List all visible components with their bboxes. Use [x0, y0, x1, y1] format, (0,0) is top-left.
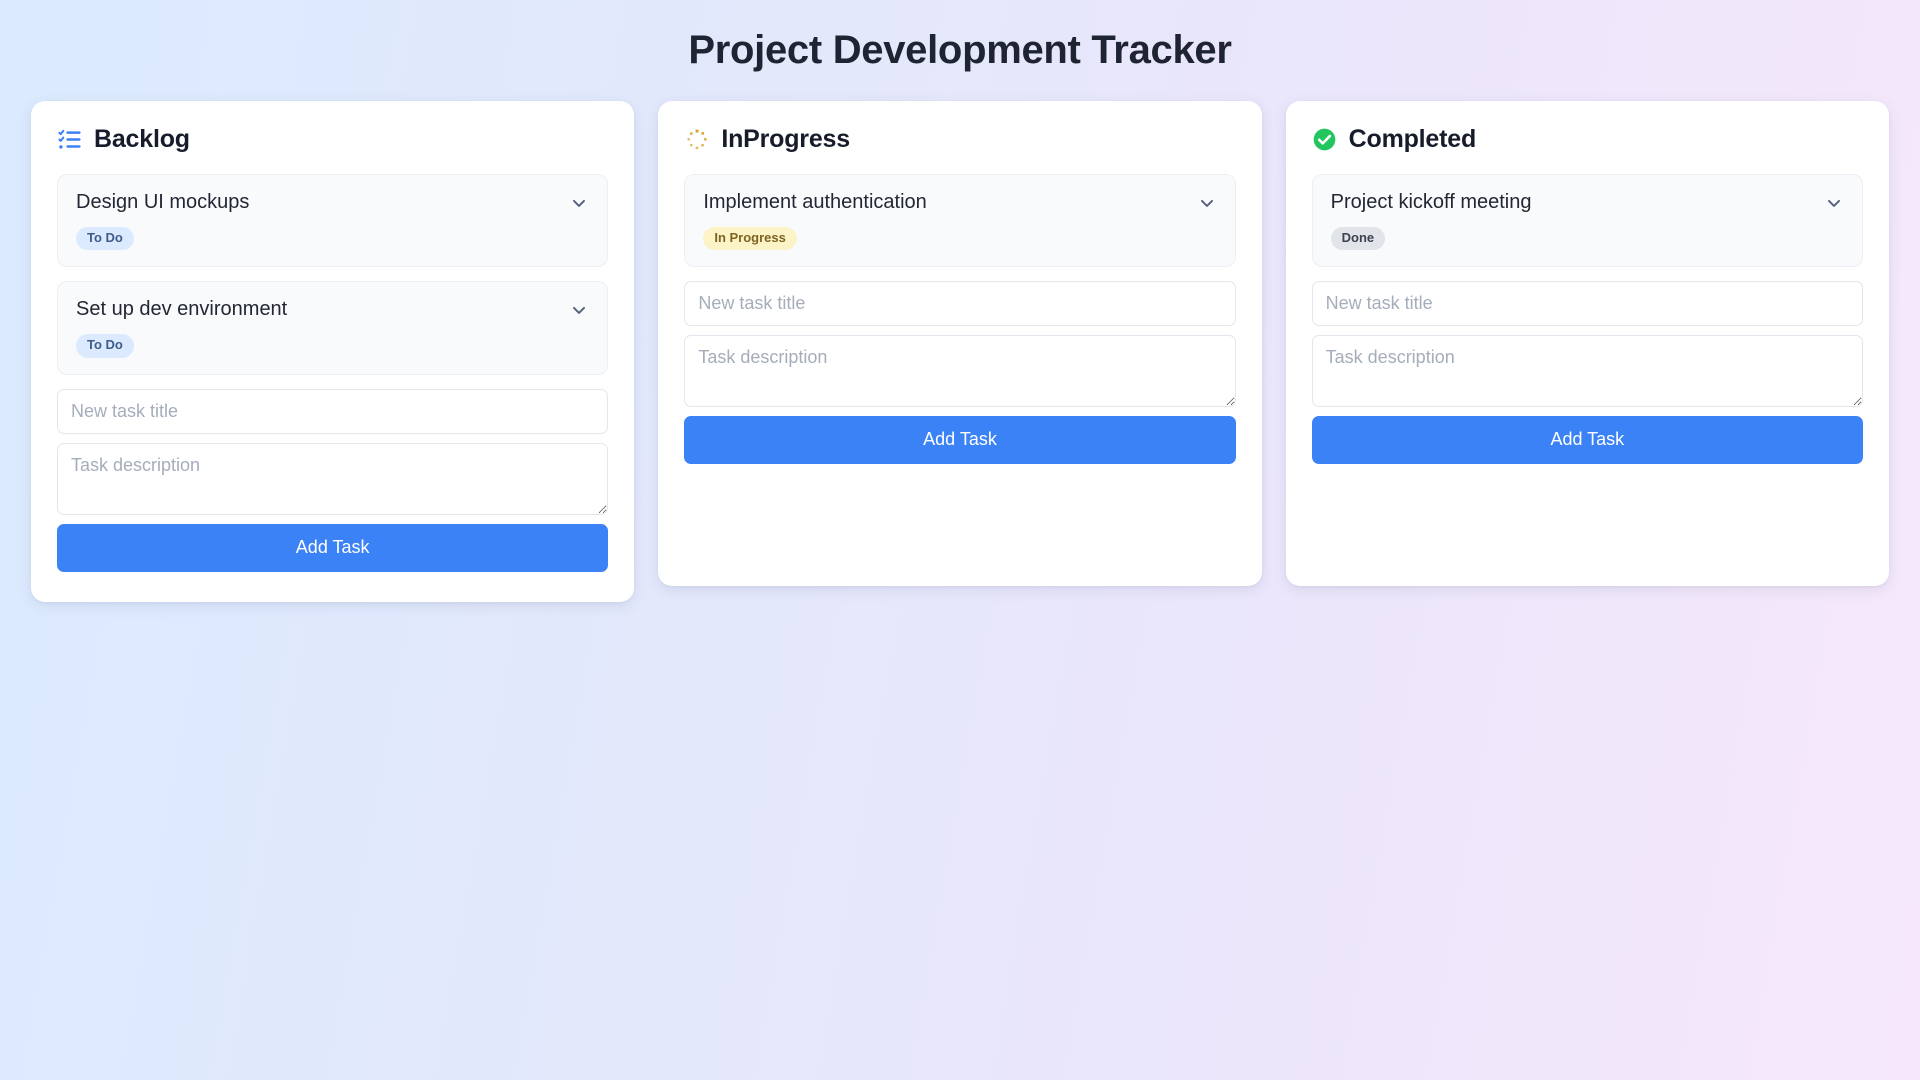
column-header-backlog: Backlog — [57, 125, 608, 154]
chevron-down-icon[interactable] — [1824, 193, 1844, 213]
column-backlog: Backlog Design UI mockups To Do Set up d… — [31, 101, 634, 602]
chevron-down-icon[interactable] — [569, 300, 589, 320]
column-completed: Completed Project kickoff meeting Done A… — [1286, 101, 1889, 586]
task-card[interactable]: Project kickoff meeting Done — [1312, 174, 1863, 267]
status-badge: Done — [1331, 227, 1386, 250]
add-task-button[interactable]: Add Task — [684, 416, 1235, 464]
status-badge: In Progress — [703, 227, 797, 250]
task-card[interactable]: Implement authentication In Progress — [684, 174, 1235, 267]
kanban-board: Backlog Design UI mockups To Do Set up d… — [30, 101, 1890, 602]
new-task-description-input[interactable] — [1312, 335, 1863, 407]
column-inprogress: InProgress Implement authentication In P… — [658, 101, 1261, 586]
task-row: Design UI mockups — [76, 190, 589, 215]
status-badge: To Do — [76, 227, 134, 250]
spinner-icon — [684, 127, 710, 153]
chevron-down-icon[interactable] — [1197, 193, 1217, 213]
new-task-title-input[interactable] — [57, 389, 608, 434]
new-task-description-input[interactable] — [684, 335, 1235, 407]
new-task-title-input[interactable] — [684, 281, 1235, 326]
column-header-inprogress: InProgress — [684, 125, 1235, 154]
column-title-inprogress: InProgress — [721, 125, 850, 154]
column-title-backlog: Backlog — [94, 125, 190, 154]
task-card[interactable]: Set up dev environment To Do — [57, 281, 608, 374]
app-root: Project Development Tracker Backlog — [0, 0, 1920, 1080]
task-title: Implement authentication — [703, 190, 926, 215]
task-title: Design UI mockups — [76, 190, 249, 215]
new-task-title-input[interactable] — [1312, 281, 1863, 326]
list-check-icon — [57, 127, 83, 153]
add-task-button[interactable]: Add Task — [57, 524, 608, 572]
new-task-description-input[interactable] — [57, 443, 608, 515]
task-row: Set up dev environment — [76, 297, 589, 322]
add-task-button[interactable]: Add Task — [1312, 416, 1863, 464]
check-circle-icon — [1312, 127, 1338, 153]
task-title: Project kickoff meeting — [1331, 190, 1532, 215]
column-title-completed: Completed — [1349, 125, 1476, 154]
task-row: Implement authentication — [703, 190, 1216, 215]
page-title: Project Development Tracker — [30, 0, 1890, 101]
chevron-down-icon[interactable] — [569, 193, 589, 213]
column-header-completed: Completed — [1312, 125, 1863, 154]
task-row: Project kickoff meeting — [1331, 190, 1844, 215]
status-badge: To Do — [76, 334, 134, 357]
task-title: Set up dev environment — [76, 297, 287, 322]
task-card[interactable]: Design UI mockups To Do — [57, 174, 608, 267]
